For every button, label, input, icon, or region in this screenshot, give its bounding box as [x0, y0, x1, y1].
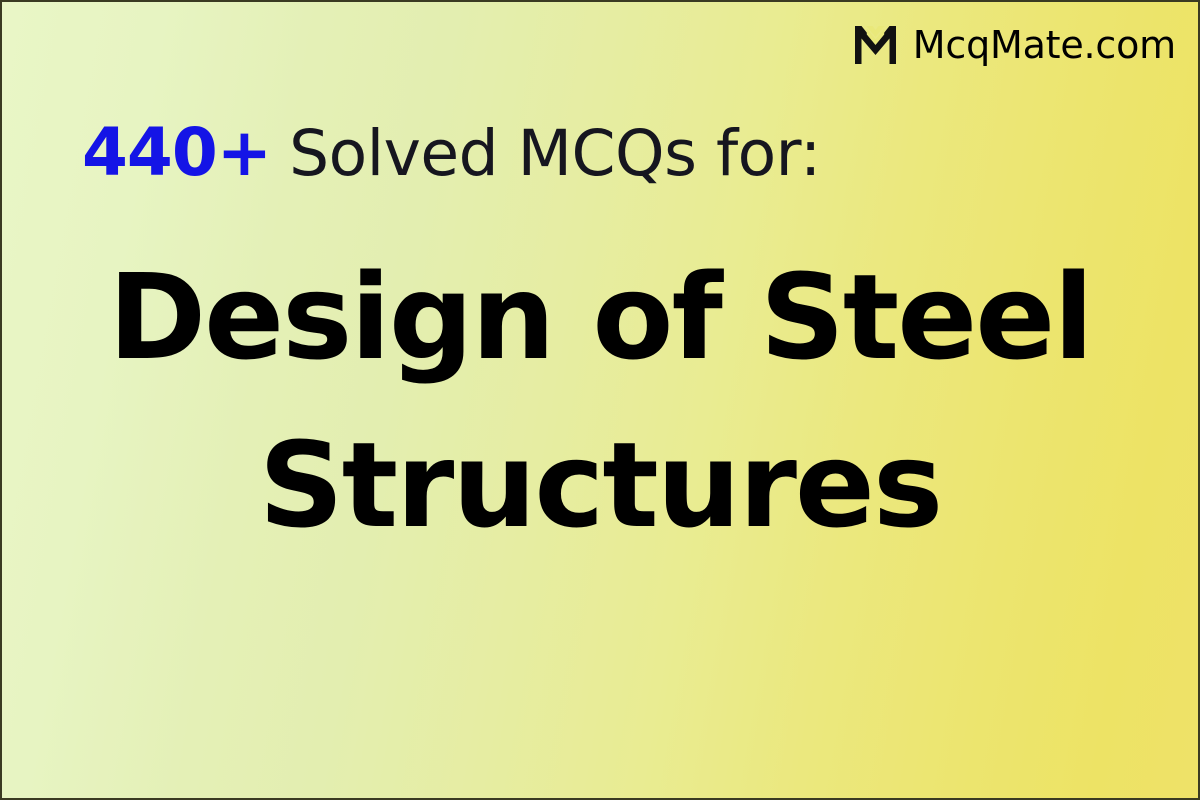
solved-count: 440+ [82, 120, 271, 186]
mcqmate-m-logo-icon [853, 24, 899, 66]
subject-title-line-2: Structures [42, 402, 1158, 570]
subject-title-line-1: Design of Steel [42, 234, 1158, 402]
brand-lockup: McqMate.com [853, 18, 1176, 72]
brand-name: McqMate.com [913, 26, 1176, 64]
headline-label: Solved MCQs for: [289, 122, 821, 185]
mcq-promo-banner: McqMate.com 440+ Solved MCQs for: Design… [0, 0, 1200, 800]
headline: 440+ Solved MCQs for: [82, 120, 821, 186]
subject-title: Design of Steel Structures [2, 234, 1198, 569]
